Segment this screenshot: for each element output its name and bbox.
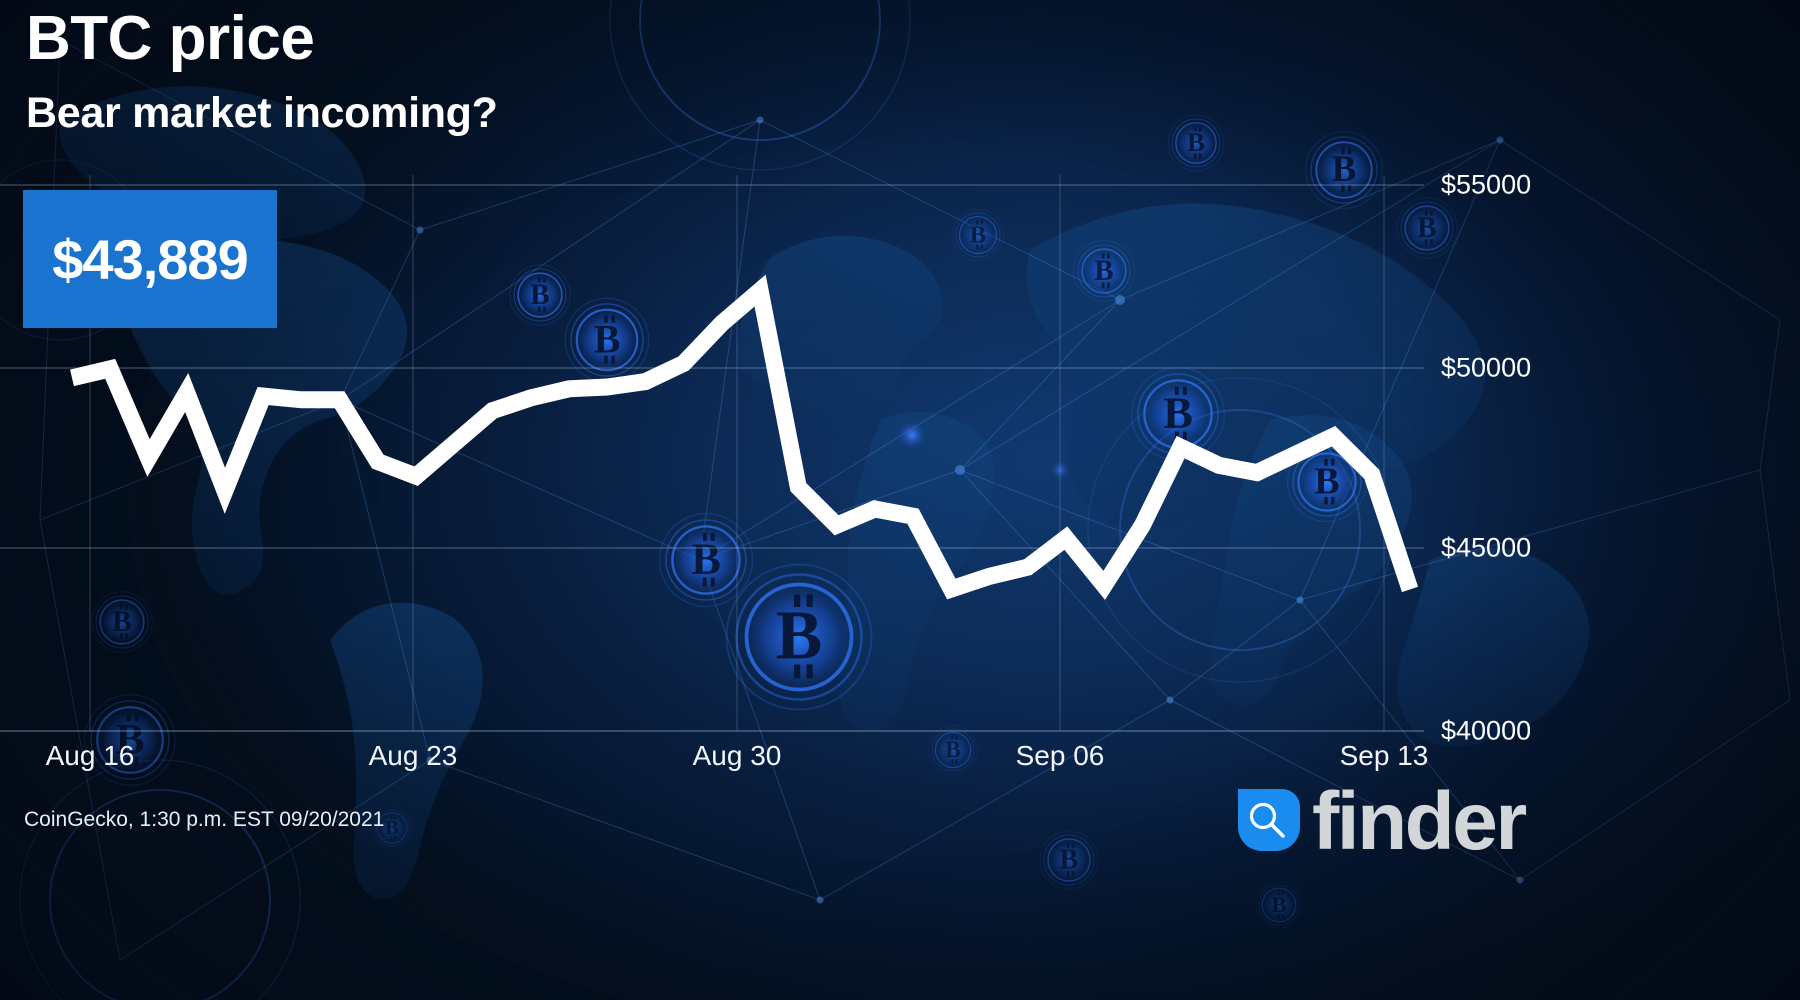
x-axis-label-aug-30: Aug 30 xyxy=(693,740,782,772)
x-axis-label-aug-16: Aug 16 xyxy=(46,740,135,772)
source-attribution: CoinGecko, 1:30 p.m. EST 09/20/2021 xyxy=(24,808,384,832)
price-line-chart xyxy=(0,0,1800,1000)
page-subtitle: Bear market incoming? xyxy=(26,92,498,135)
current-price-badge: $43,889 xyxy=(23,190,277,328)
btc-price-line xyxy=(72,291,1410,590)
chart-stage: B xyxy=(0,0,1800,1000)
x-axis-label-sep-13: Sep 13 xyxy=(1340,740,1429,772)
finder-wordmark: finder xyxy=(1312,781,1525,863)
x-axis-label-aug-23: Aug 23 xyxy=(369,740,458,772)
search-pin-icon xyxy=(1232,783,1306,857)
y-axis-label-45000: $45000 xyxy=(1441,533,1531,564)
page-title: BTC price xyxy=(26,8,314,70)
y-axis-label-50000: $50000 xyxy=(1441,353,1531,384)
y-axis-label-55000: $55000 xyxy=(1441,170,1531,201)
finder-logo: finder xyxy=(1232,779,1525,861)
x-axis-label-sep-06: Sep 06 xyxy=(1016,740,1105,772)
y-axis-label-40000: $40000 xyxy=(1441,716,1531,747)
current-price-value: $43,889 xyxy=(52,227,247,292)
